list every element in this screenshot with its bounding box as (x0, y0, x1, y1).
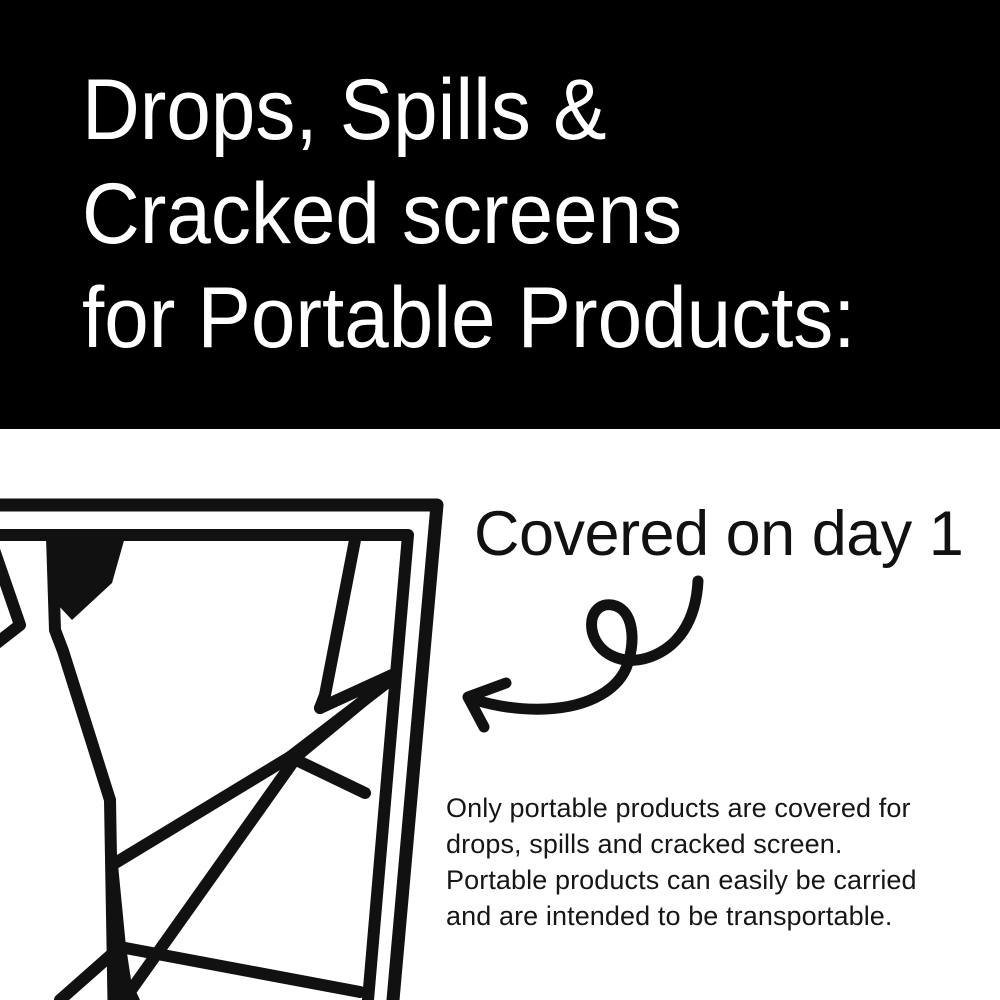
curly-arrow-icon (450, 575, 750, 735)
cracked-screen-icon (0, 455, 460, 1000)
body-copy-line-2: drops, spills and cracked screen. (446, 826, 986, 862)
page-title: Drops, Spills & Cracked screens for Port… (82, 58, 900, 370)
shard-fill-top (55, 537, 125, 620)
callout-heading: Covered on day 1 (474, 498, 963, 570)
cracked-screen-illustration (0, 455, 460, 1000)
body-copy-line-3: Portable products can easily be carried (446, 862, 986, 898)
page-title-line-3: for Portable Products: (82, 266, 900, 370)
page-title-line-2: Cracked screens (82, 162, 900, 266)
body-copy-line-4: and are intended to be transportable. (446, 898, 986, 934)
page-title-line-1: Drops, Spills & (82, 58, 900, 162)
hero-banner: Drops, Spills & Cracked screens for Port… (0, 0, 1000, 429)
curly-arrow-glyph (450, 575, 750, 735)
body-copy-line-1: Only portable products are covered for (446, 790, 986, 826)
body-copy: Only portable products are covered for d… (446, 790, 986, 934)
infographic-page: Drops, Spills & Cracked screens for Port… (0, 0, 1000, 1000)
